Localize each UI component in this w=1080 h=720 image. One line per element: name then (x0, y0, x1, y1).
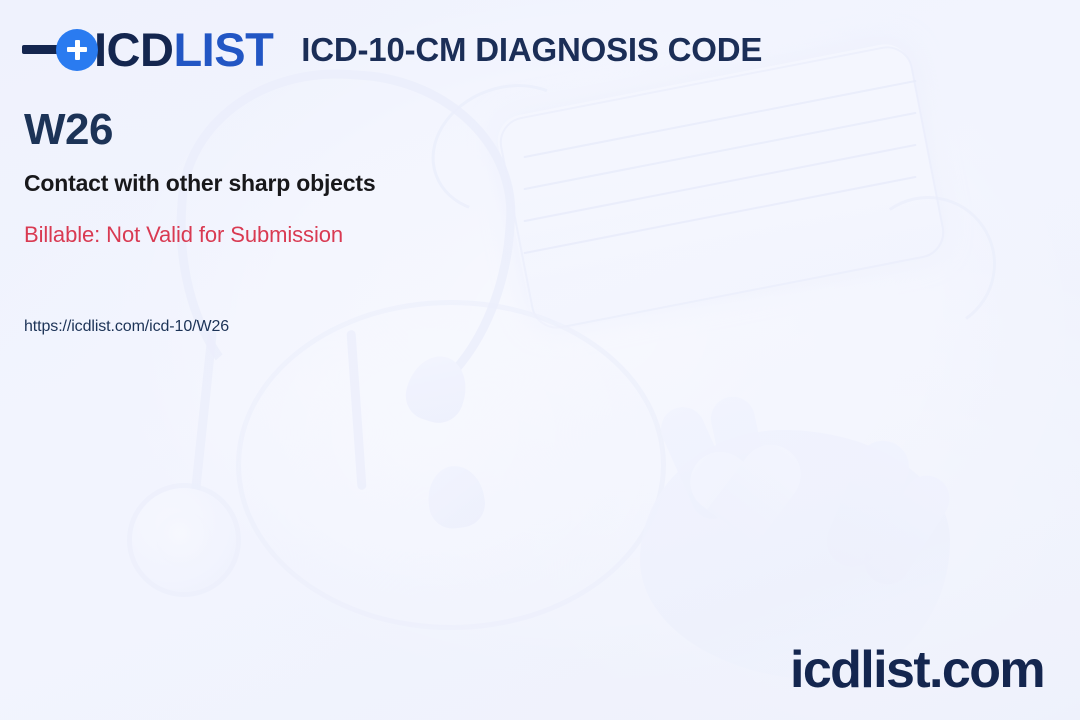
header: ICDLIST ICD-10-CM DIAGNOSIS CODE (22, 26, 762, 73)
source-url[interactable]: https://icdlist.com/icd-10/W26 (24, 318, 229, 336)
diagnosis-code: W26 (24, 108, 375, 152)
logo-word-list: LIST (173, 23, 273, 76)
billable-status: Billable: Not Valid for Submission (24, 222, 343, 248)
diagnosis-description: Contact with other sharp objects (24, 170, 375, 197)
logo-word-icd: ICD (94, 23, 173, 76)
code-info-block: W26 Contact with other sharp objects (24, 108, 375, 197)
page-title: ICD-10-CM DIAGNOSIS CODE (301, 31, 762, 69)
logo-wordmark: ICDLIST (94, 26, 273, 73)
plus-icon-vertical (75, 40, 80, 60)
plus-circle-icon (56, 29, 98, 71)
icdlist-logo[interactable]: ICDLIST (22, 26, 273, 73)
card-content: ICDLIST ICD-10-CM DIAGNOSIS CODE W26 Con… (0, 0, 1080, 720)
icd-code-card: ICDLIST ICD-10-CM DIAGNOSIS CODE W26 Con… (0, 0, 1080, 720)
brand-footer: icdlist.com (790, 644, 1044, 696)
